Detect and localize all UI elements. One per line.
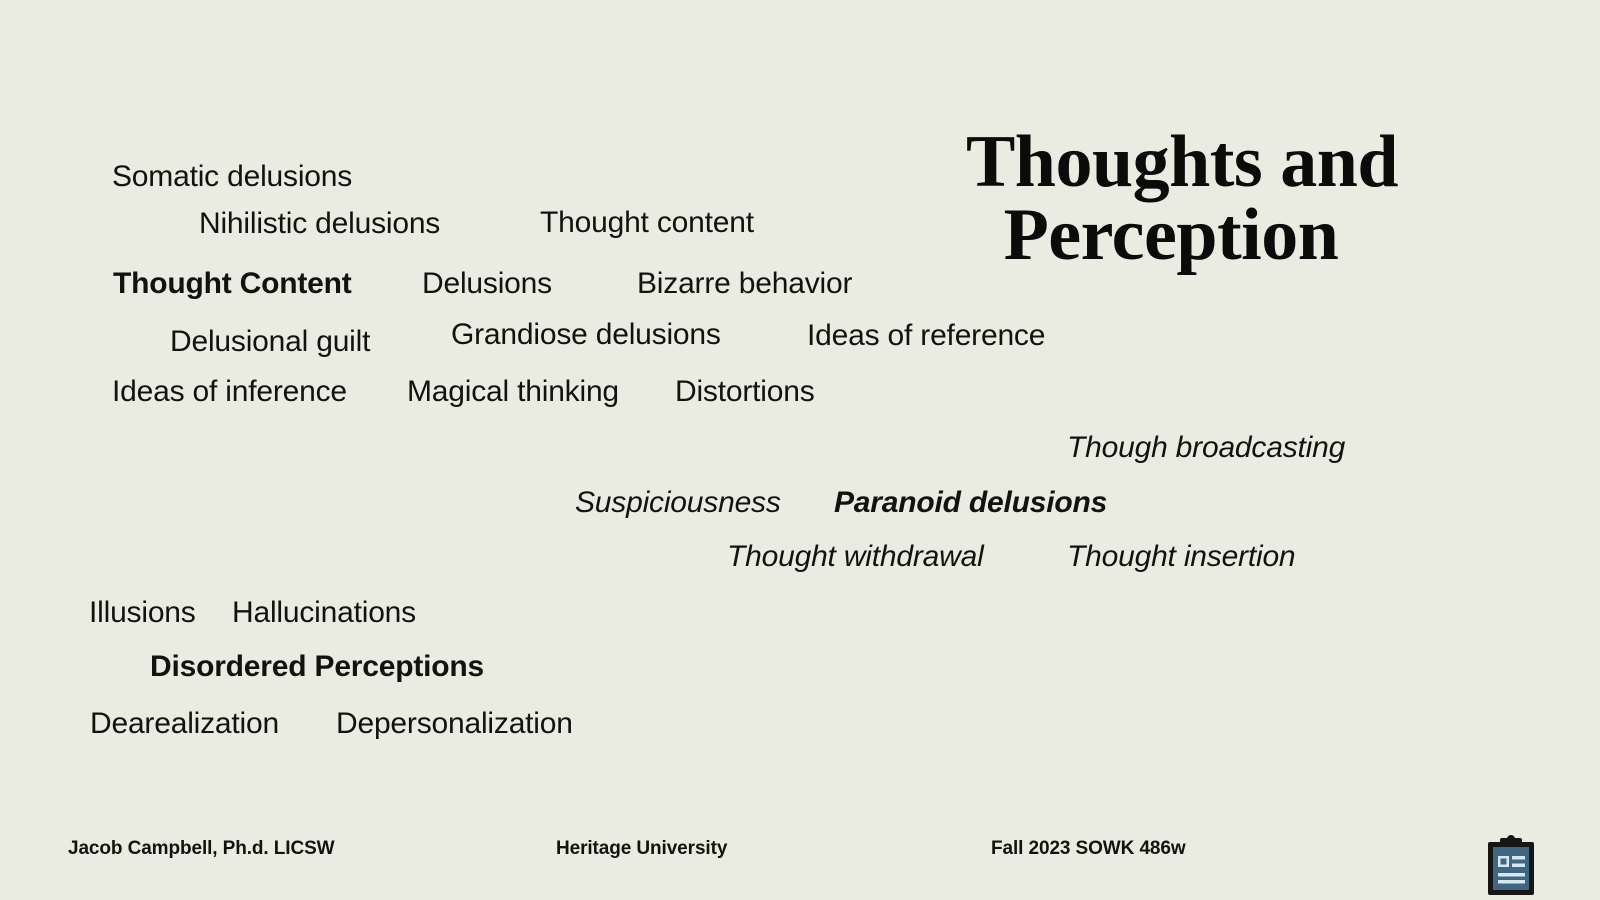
cloud-word: Suspiciousness xyxy=(575,486,781,520)
cloud-word: Thought content xyxy=(540,206,754,240)
cloud-word: Paranoid delusions xyxy=(834,486,1107,520)
cloud-word: Distortions xyxy=(675,375,815,409)
cloud-word: Bizarre behavior xyxy=(637,267,852,301)
slide-canvas: Thoughts and Perception Somatic delusion… xyxy=(0,0,1600,900)
cloud-word: Ideas of reference xyxy=(807,319,1045,353)
clipboard-icon xyxy=(1483,833,1539,895)
slide-footer: Jacob Campbell, Ph.d. LICSW Heritage Uni… xyxy=(0,838,1600,878)
cloud-word: Delusions xyxy=(422,267,552,301)
footer-course: Fall 2023 SOWK 486w xyxy=(991,838,1186,860)
cloud-word: Hallucinations xyxy=(232,596,416,630)
cloud-word: Somatic delusions xyxy=(112,160,352,194)
cloud-word: Dearealization xyxy=(90,707,279,741)
cloud-word: Thought insertion xyxy=(1067,540,1295,574)
word-cloud: Somatic delusionsNihilistic delusionsTho… xyxy=(0,0,1600,820)
footer-author: Jacob Campbell, Ph.d. LICSW xyxy=(68,838,335,860)
cloud-word: Delusional guilt xyxy=(170,325,370,359)
cloud-word: Though broadcasting xyxy=(1067,431,1345,465)
footer-organization: Heritage University xyxy=(556,838,727,860)
cloud-word: Magical thinking xyxy=(407,375,619,409)
cloud-word: Disordered Perceptions xyxy=(150,650,484,684)
cloud-word: Thought withdrawal xyxy=(727,540,984,574)
cloud-word: Ideas of inference xyxy=(112,375,347,409)
cloud-word: Depersonalization xyxy=(336,707,573,741)
cloud-word: Nihilistic delusions xyxy=(199,207,440,241)
cloud-word: Illusions xyxy=(89,596,196,630)
cloud-word: Grandiose delusions xyxy=(451,318,721,352)
cloud-word: Thought Content xyxy=(113,267,352,301)
